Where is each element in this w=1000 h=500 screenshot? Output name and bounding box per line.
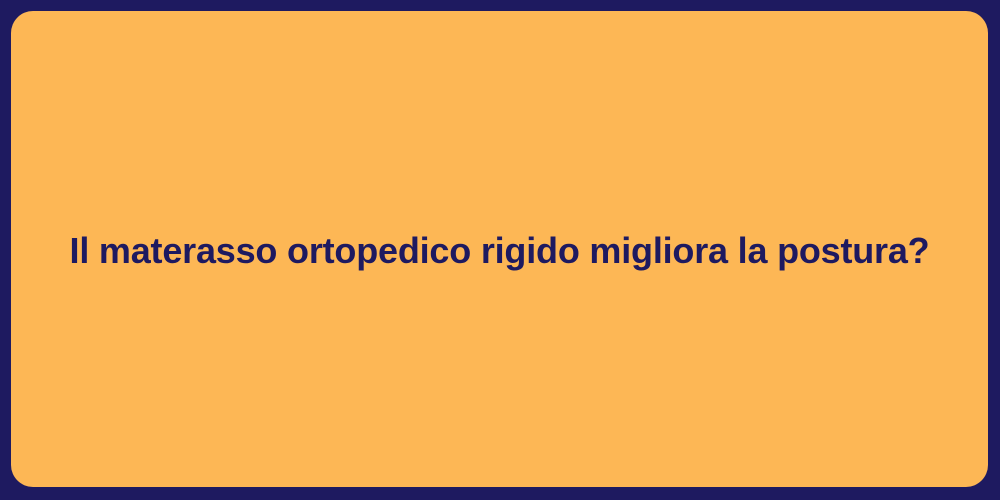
headline-container: Il materasso ortopedico rigido migliora …: [11, 11, 988, 487]
article-card: Il materasso ortopedico rigido migliora …: [11, 11, 988, 487]
page-background: Il materasso ortopedico rigido migliora …: [0, 0, 1000, 500]
page-title: Il materasso ortopedico rigido migliora …: [70, 228, 930, 273]
